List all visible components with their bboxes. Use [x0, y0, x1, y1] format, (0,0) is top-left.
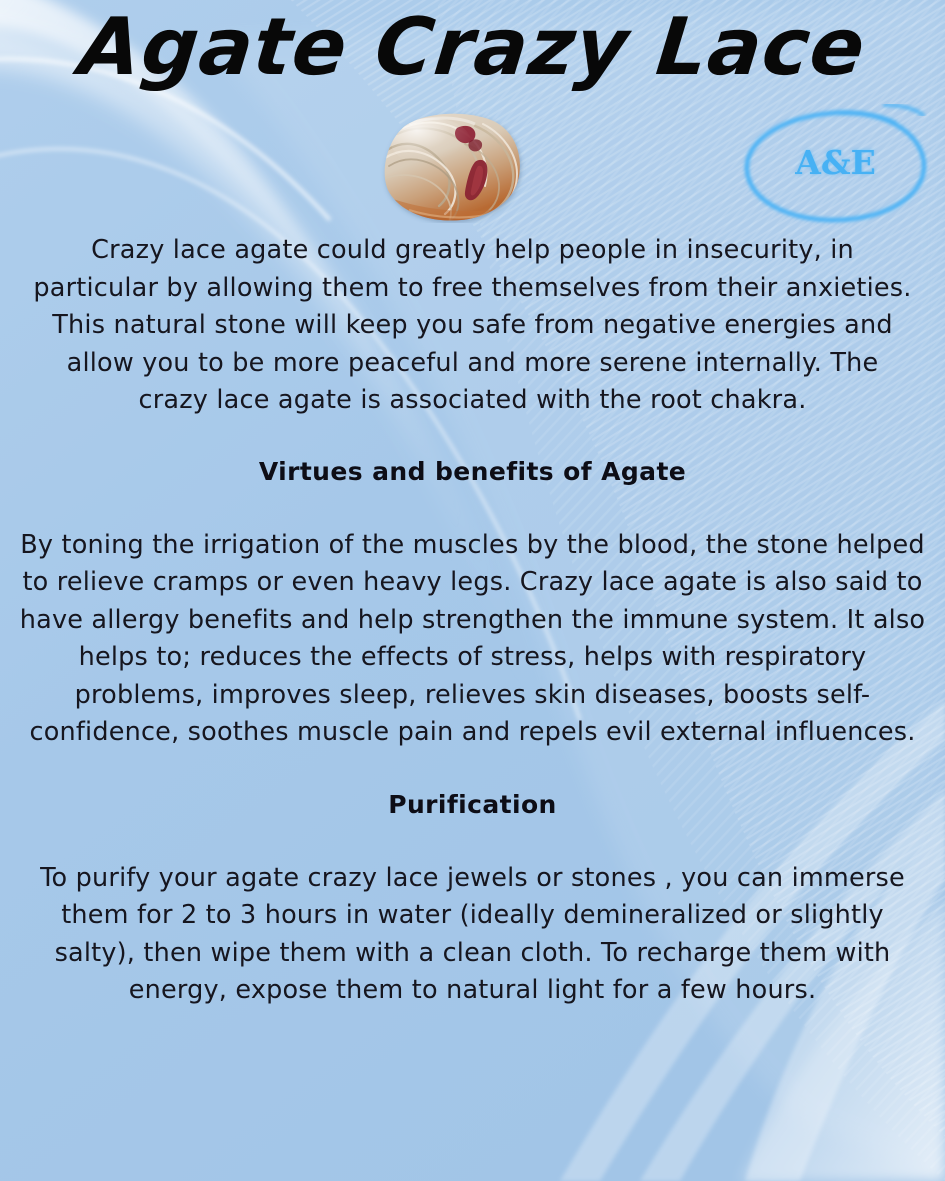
paragraph-purification: To purify your agate crazy lace jewels o…: [20, 860, 925, 1010]
agate-stone-illustration: [379, 110, 527, 223]
agate-stone-image: [379, 110, 527, 223]
paragraph-intro: Crazy lace agate could greatly help peop…: [33, 232, 913, 420]
section-heading-purification: Purification: [0, 788, 945, 822]
section-heading-virtues: Virtues and benefits of Agate: [0, 455, 945, 489]
article-body: Crazy lace agate could greatly help peop…: [0, 232, 945, 1010]
paragraph-virtues: By toning the irrigation of the muscles …: [17, 527, 929, 752]
logo-ellipse-tail: [885, 105, 923, 115]
poster-content: Agate Crazy Lace: [0, 0, 945, 1181]
poster-page: Agate Crazy Lace: [0, 0, 945, 1181]
brand-logo: A&E: [733, 99, 938, 232]
page-title: Agate Crazy Lace: [0, 6, 945, 89]
logo-text: A&E: [733, 143, 938, 182]
